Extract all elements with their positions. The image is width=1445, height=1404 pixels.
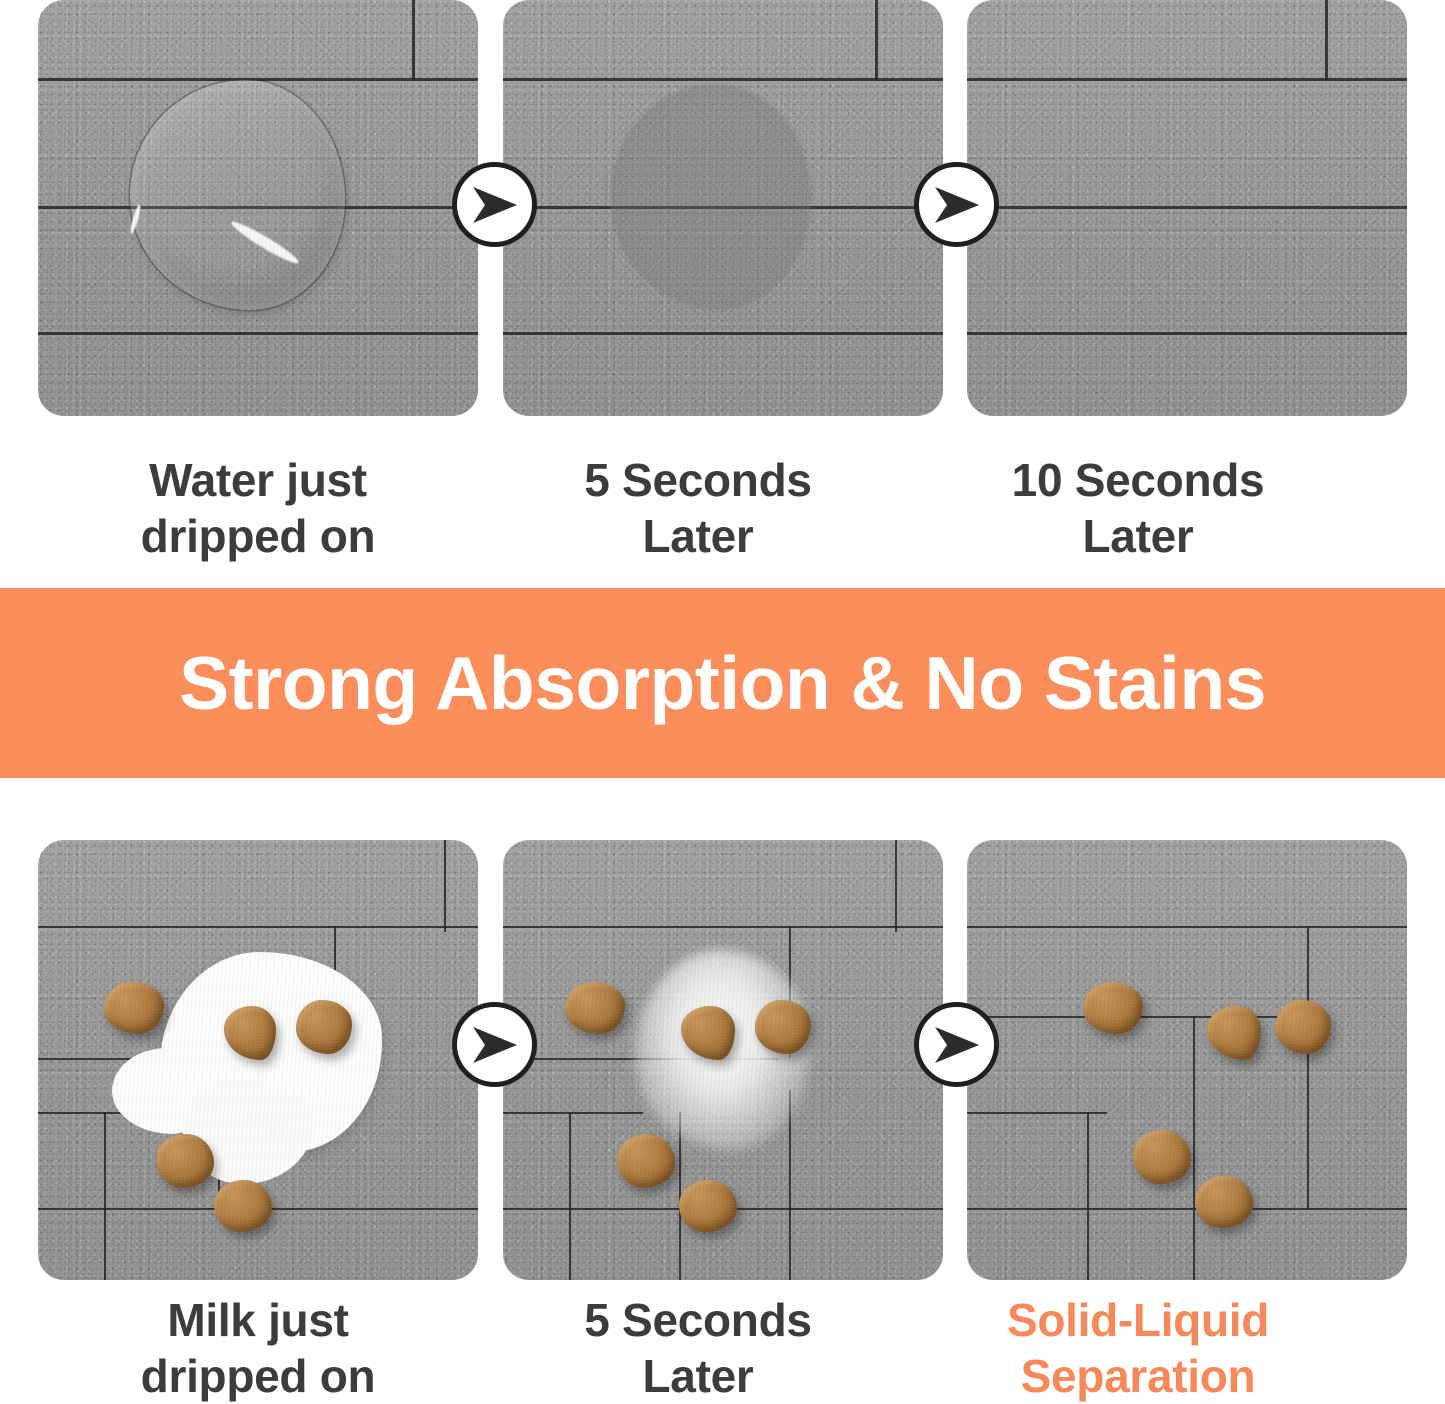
mat-seam-vertical [1087,1112,1089,1280]
pet-mat-surface [503,0,943,416]
milk-spill [160,952,382,1152]
caption-line: Solid-Liquid [918,1292,1358,1348]
kibble-piece [679,1180,737,1232]
mat-seam-horizontal [967,926,1407,928]
caption-line: Later [918,508,1358,564]
mat-seam-vertical [1307,926,1309,1208]
pet-mat-surface [38,0,478,416]
arrow-right-icon [452,162,537,247]
water-highlight-icon [129,204,142,234]
mat-seam-vertical [875,0,878,80]
mat-seam-horizontal [503,332,943,335]
headline-text: Strong Absorption & No Stains [179,646,1266,721]
arrow-right-icon [914,162,999,247]
water-caption-row: Water just dripped on 5 Seconds Later 10… [0,452,1445,564]
water-step-1-panel [38,0,478,416]
kibble-piece [617,1134,675,1188]
milk-step-1-caption: Milk just dripped on [38,1292,478,1404]
caption-line: Later [478,1348,918,1404]
milk-step-3-caption: Solid-Liquid Separation [918,1292,1358,1404]
kibble-piece [214,1180,272,1232]
milk-step-3-panel [967,840,1407,1280]
absorption-infographic: Water just dripped on 5 Seconds Later 10… [0,0,1445,1395]
kibble-piece [296,1000,352,1054]
damp-residue-mark [611,84,811,310]
caption-line: Separation [918,1348,1358,1404]
mat-seam-horizontal [967,78,1407,81]
caption-line: 5 Seconds [478,1292,918,1348]
pet-mat-surface [967,0,1407,416]
kibble-piece [1083,982,1143,1034]
kibble-piece [156,1134,214,1188]
arrow-right-icon [914,1002,999,1087]
mat-seam-horizontal [967,1112,1107,1114]
caption-line: 5 Seconds [478,452,918,508]
water-step-1-caption: Water just dripped on [38,452,478,564]
caption-line: 10 Seconds [918,452,1358,508]
mat-seam-horizontal [967,1208,1407,1210]
pet-mat-surface [503,840,943,1280]
milk-caption-row: Milk just dripped on 5 Seconds Later Sol… [0,1292,1445,1404]
arrow-right-icon [452,1002,537,1087]
pet-mat-surface [38,840,478,1280]
milk-step-1-panel [38,840,478,1280]
mat-seam-vertical [789,1090,791,1280]
water-demo-row [0,0,1445,416]
caption-line: dripped on [38,1348,478,1404]
mat-seam-horizontal [38,332,478,335]
water-droplet [130,80,345,310]
milk-step-2-caption: 5 Seconds Later [478,1292,918,1404]
milk-step-2-panel [503,840,943,1280]
mat-seam-vertical [895,840,897,932]
kibble-piece [755,1000,811,1054]
kibble-piece [1195,1176,1253,1228]
caption-line: Later [478,508,918,564]
mat-seam-vertical [1325,0,1328,80]
pet-mat-surface [967,840,1407,1280]
mat-seam-horizontal [967,206,1407,209]
caption-line: Milk just [38,1292,478,1348]
water-step-3-caption: 10 Seconds Later [918,452,1358,564]
milk-demo-row [0,840,1445,1280]
mat-seam-horizontal [503,1112,643,1114]
mat-seam-horizontal [967,332,1407,335]
water-step-2-caption: 5 Seconds Later [478,452,918,564]
mat-seam-vertical [444,840,446,932]
kibble-piece [1133,1130,1191,1184]
water-step-2-panel [503,0,943,416]
mat-seam-vertical [104,1112,106,1280]
mat-seam-vertical [1193,1016,1195,1112]
water-step-3-panel [967,0,1407,416]
caption-line: Water just [38,452,478,508]
kibble-piece [1207,1006,1261,1060]
mat-seam-vertical [412,0,415,80]
caption-line: dripped on [38,508,478,564]
water-highlight-icon [229,218,302,268]
mat-seam-horizontal [503,926,943,928]
kibble-piece [104,982,164,1034]
mat-seam-horizontal [38,926,478,928]
headline-banner: Strong Absorption & No Stains [0,588,1445,778]
kibble-piece [1275,1000,1331,1054]
mat-seam-vertical [569,1112,571,1280]
kibble-piece [565,982,625,1034]
